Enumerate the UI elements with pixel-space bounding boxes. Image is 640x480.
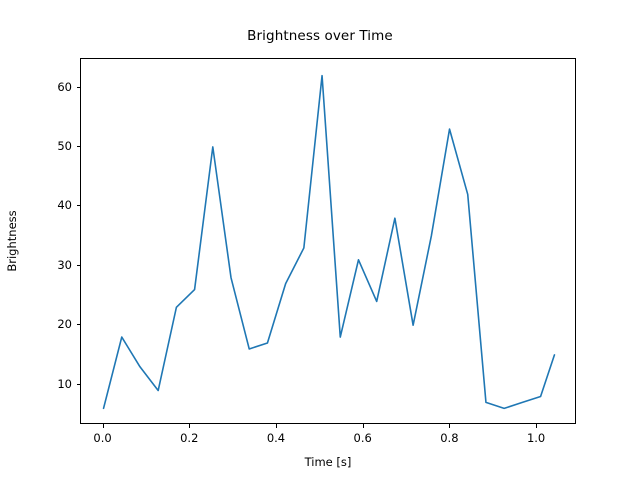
y-tick-label: 20: [32, 317, 72, 331]
x-tick-label: 0.0: [73, 431, 133, 445]
x-tick-label: 0.2: [159, 431, 219, 445]
y-tick-label: 60: [32, 80, 72, 94]
y-axis-label: Brightness: [5, 210, 19, 271]
page-title: Brightness over Time: [0, 28, 640, 44]
y-tick-label: 50: [32, 139, 72, 153]
x-tick-label: 0.6: [333, 431, 393, 445]
x-tick-label: 1.0: [506, 431, 566, 445]
x-tick-label: 0.8: [419, 431, 479, 445]
plot-area: [80, 58, 576, 424]
y-axis-label-container: Brightness: [0, 58, 24, 424]
x-tick-label: 0.4: [246, 431, 306, 445]
y-tick-label: 10: [32, 377, 72, 391]
line-series-brightness: [81, 59, 577, 425]
data-polyline: [104, 76, 555, 409]
y-tick-label: 30: [32, 258, 72, 272]
y-tick-label: 40: [32, 198, 72, 212]
matplotlib-figure: Brightness over Time Brightness 10203040…: [0, 0, 640, 480]
x-axis-label: Time [s]: [80, 455, 576, 469]
